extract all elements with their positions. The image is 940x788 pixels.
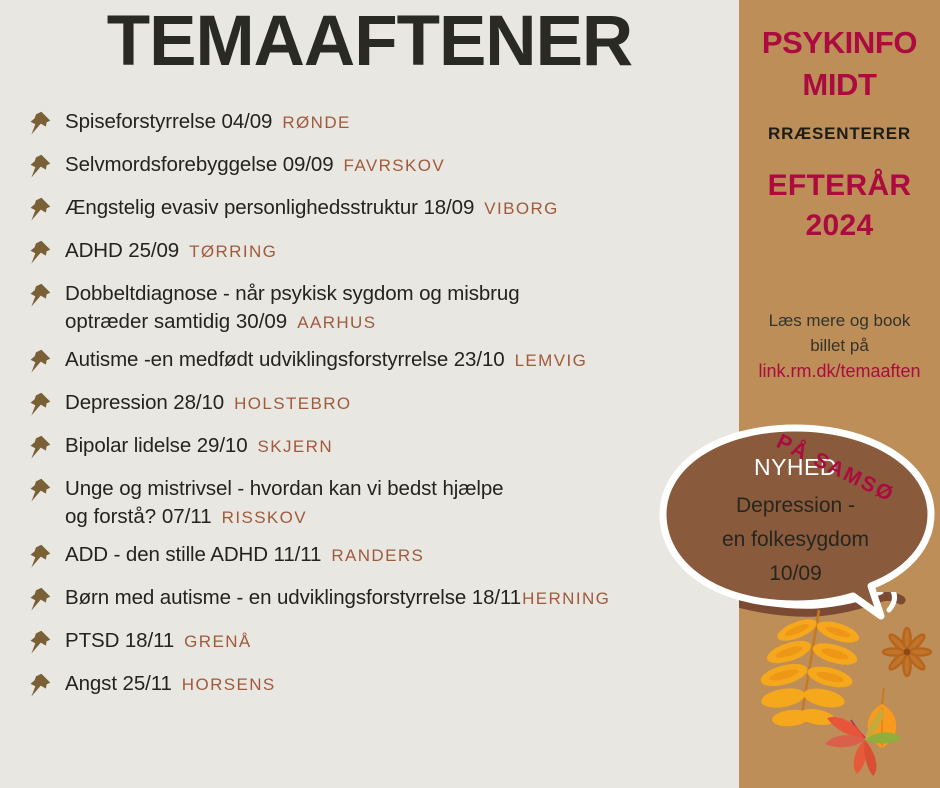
event-title: Bipolar lidelse 29/10 bbox=[65, 434, 248, 457]
event-title: Unge og mistrivsel - hvordan kan vi beds… bbox=[65, 477, 503, 500]
event-list-item[interactable]: Ængstelig evasiv personlighedsstruktur 1… bbox=[22, 194, 742, 228]
event-list-item[interactable]: Bipolar lidelse 29/10SKJERN bbox=[22, 432, 742, 466]
event-city: HORSENS bbox=[182, 675, 276, 694]
event-list-item[interactable]: Angst 25/11HORSENS bbox=[22, 670, 742, 704]
event-city: RISSKOV bbox=[222, 508, 307, 527]
booking-note-line1: Læs mere og book bbox=[739, 308, 940, 333]
event-title: Selvmordsforebyggelse 09/09 bbox=[65, 153, 334, 176]
event-city: FAVRSKOV bbox=[344, 156, 446, 175]
pushpin-icon bbox=[26, 153, 52, 179]
event-title: Dobbeltdiagnose - når psykisk sygdom og … bbox=[65, 282, 520, 305]
page-title: TEMAAFTENER bbox=[0, 6, 739, 77]
event-list-item[interactable]: PTSD 18/11GRENÅ bbox=[22, 627, 742, 661]
event-city: HERNING bbox=[522, 589, 610, 608]
pushpin-icon bbox=[26, 434, 52, 460]
event-title: Børn med autisme - en udviklingsforstyrr… bbox=[65, 586, 521, 609]
event-city: LEMVIG bbox=[515, 351, 588, 370]
booking-link[interactable]: link.rm.dk/temaaften bbox=[739, 358, 940, 384]
event-title: ADD - den stille ADHD 11/11 bbox=[65, 543, 321, 566]
event-city: RØNDE bbox=[282, 113, 350, 132]
pushpin-icon bbox=[26, 110, 52, 136]
event-list-item[interactable]: ADHD 25/09TØRRING bbox=[22, 237, 742, 271]
event-title-line2: og forstå? 07/11RISSKOV bbox=[65, 503, 742, 532]
event-title-line2: optræder samtidig 30/09AARHUS bbox=[65, 308, 742, 337]
event-city: RANDERS bbox=[331, 546, 424, 565]
event-list-item[interactable]: Dobbeltdiagnose - når psykisk sygdom og … bbox=[22, 280, 742, 337]
pushpin-icon bbox=[26, 672, 52, 698]
left-content-panel: TEMAAFTENER Spiseforstyrrelse 04/09RØNDE… bbox=[0, 0, 739, 788]
event-list-item[interactable]: Depression 28/10HOLSTEBRO bbox=[22, 389, 742, 423]
event-list-item[interactable]: ADD - den stille ADHD 11/11RANDERS bbox=[22, 541, 742, 575]
bubble-content: NYHED Depression - en folkesygdom 10/09 bbox=[683, 448, 908, 591]
event-title-line2-text: optræder samtidig 30/09 bbox=[65, 310, 287, 333]
season-label: EFTERÅR bbox=[739, 166, 940, 206]
booking-note-line2: billet på bbox=[739, 333, 940, 358]
event-city: GRENÅ bbox=[184, 632, 251, 651]
pushpin-icon bbox=[26, 391, 52, 417]
pushpin-icon bbox=[26, 543, 52, 569]
pushpin-icon bbox=[26, 196, 52, 222]
pushpin-icon bbox=[26, 239, 52, 265]
pushpin-icon bbox=[26, 586, 52, 612]
event-list: Spiseforstyrrelse 04/09RØNDESelvmordsfor… bbox=[22, 108, 742, 713]
bubble-event-details: Depression - en folkesygdom 10/09 bbox=[683, 489, 908, 591]
event-title: PTSD 18/11 bbox=[65, 629, 174, 652]
event-title: Autisme -en medfødt udviklingsforstyrrel… bbox=[65, 348, 505, 371]
event-list-item[interactable]: Autisme -en medfødt udviklingsforstyrrel… bbox=[22, 346, 742, 380]
brand-name-line1: PSYKINFO bbox=[739, 22, 940, 64]
bubble-line3: 10/09 bbox=[683, 557, 908, 591]
pushpin-icon bbox=[26, 282, 52, 308]
event-list-item[interactable]: Selvmordsforebyggelse 09/09FAVRSKOV bbox=[22, 151, 742, 185]
season-year: 2024 bbox=[739, 206, 940, 246]
event-title: Spiseforstyrrelse 04/09 bbox=[65, 110, 272, 133]
event-city: VIBORG bbox=[484, 199, 559, 218]
news-speech-bubble: NYHED Depression - en folkesygdom 10/09 … bbox=[655, 420, 940, 655]
presents-label: RRÆSENTERER bbox=[739, 124, 940, 144]
event-title: ADHD 25/09 bbox=[65, 239, 179, 262]
event-city: AARHUS bbox=[297, 313, 376, 332]
pushpin-icon bbox=[26, 348, 52, 374]
pushpin-icon bbox=[26, 477, 52, 503]
event-city: TØRRING bbox=[189, 242, 277, 261]
event-title: Depression 28/10 bbox=[65, 391, 224, 414]
event-city: SKJERN bbox=[258, 437, 333, 456]
event-list-item[interactable]: Spiseforstyrrelse 04/09RØNDE bbox=[22, 108, 742, 142]
brand-name-line2: MIDT bbox=[739, 64, 940, 106]
bubble-line2: en folkesygdom bbox=[683, 523, 908, 557]
event-title-line2-text: og forstå? 07/11 bbox=[65, 505, 212, 528]
event-list-item[interactable]: Unge og mistrivsel - hvordan kan vi beds… bbox=[22, 475, 742, 532]
booking-note: Læs mere og book billet på bbox=[739, 308, 940, 358]
pushpin-icon bbox=[26, 629, 52, 655]
event-list-item[interactable]: Børn med autisme - en udviklingsforstyrr… bbox=[22, 584, 742, 618]
event-city: HOLSTEBRO bbox=[234, 394, 351, 413]
event-title: Angst 25/11 bbox=[65, 672, 172, 695]
event-title: Ængstelig evasiv personlighedsstruktur 1… bbox=[65, 196, 474, 219]
poster-root: TEMAAFTENER Spiseforstyrrelse 04/09RØNDE… bbox=[0, 0, 940, 788]
